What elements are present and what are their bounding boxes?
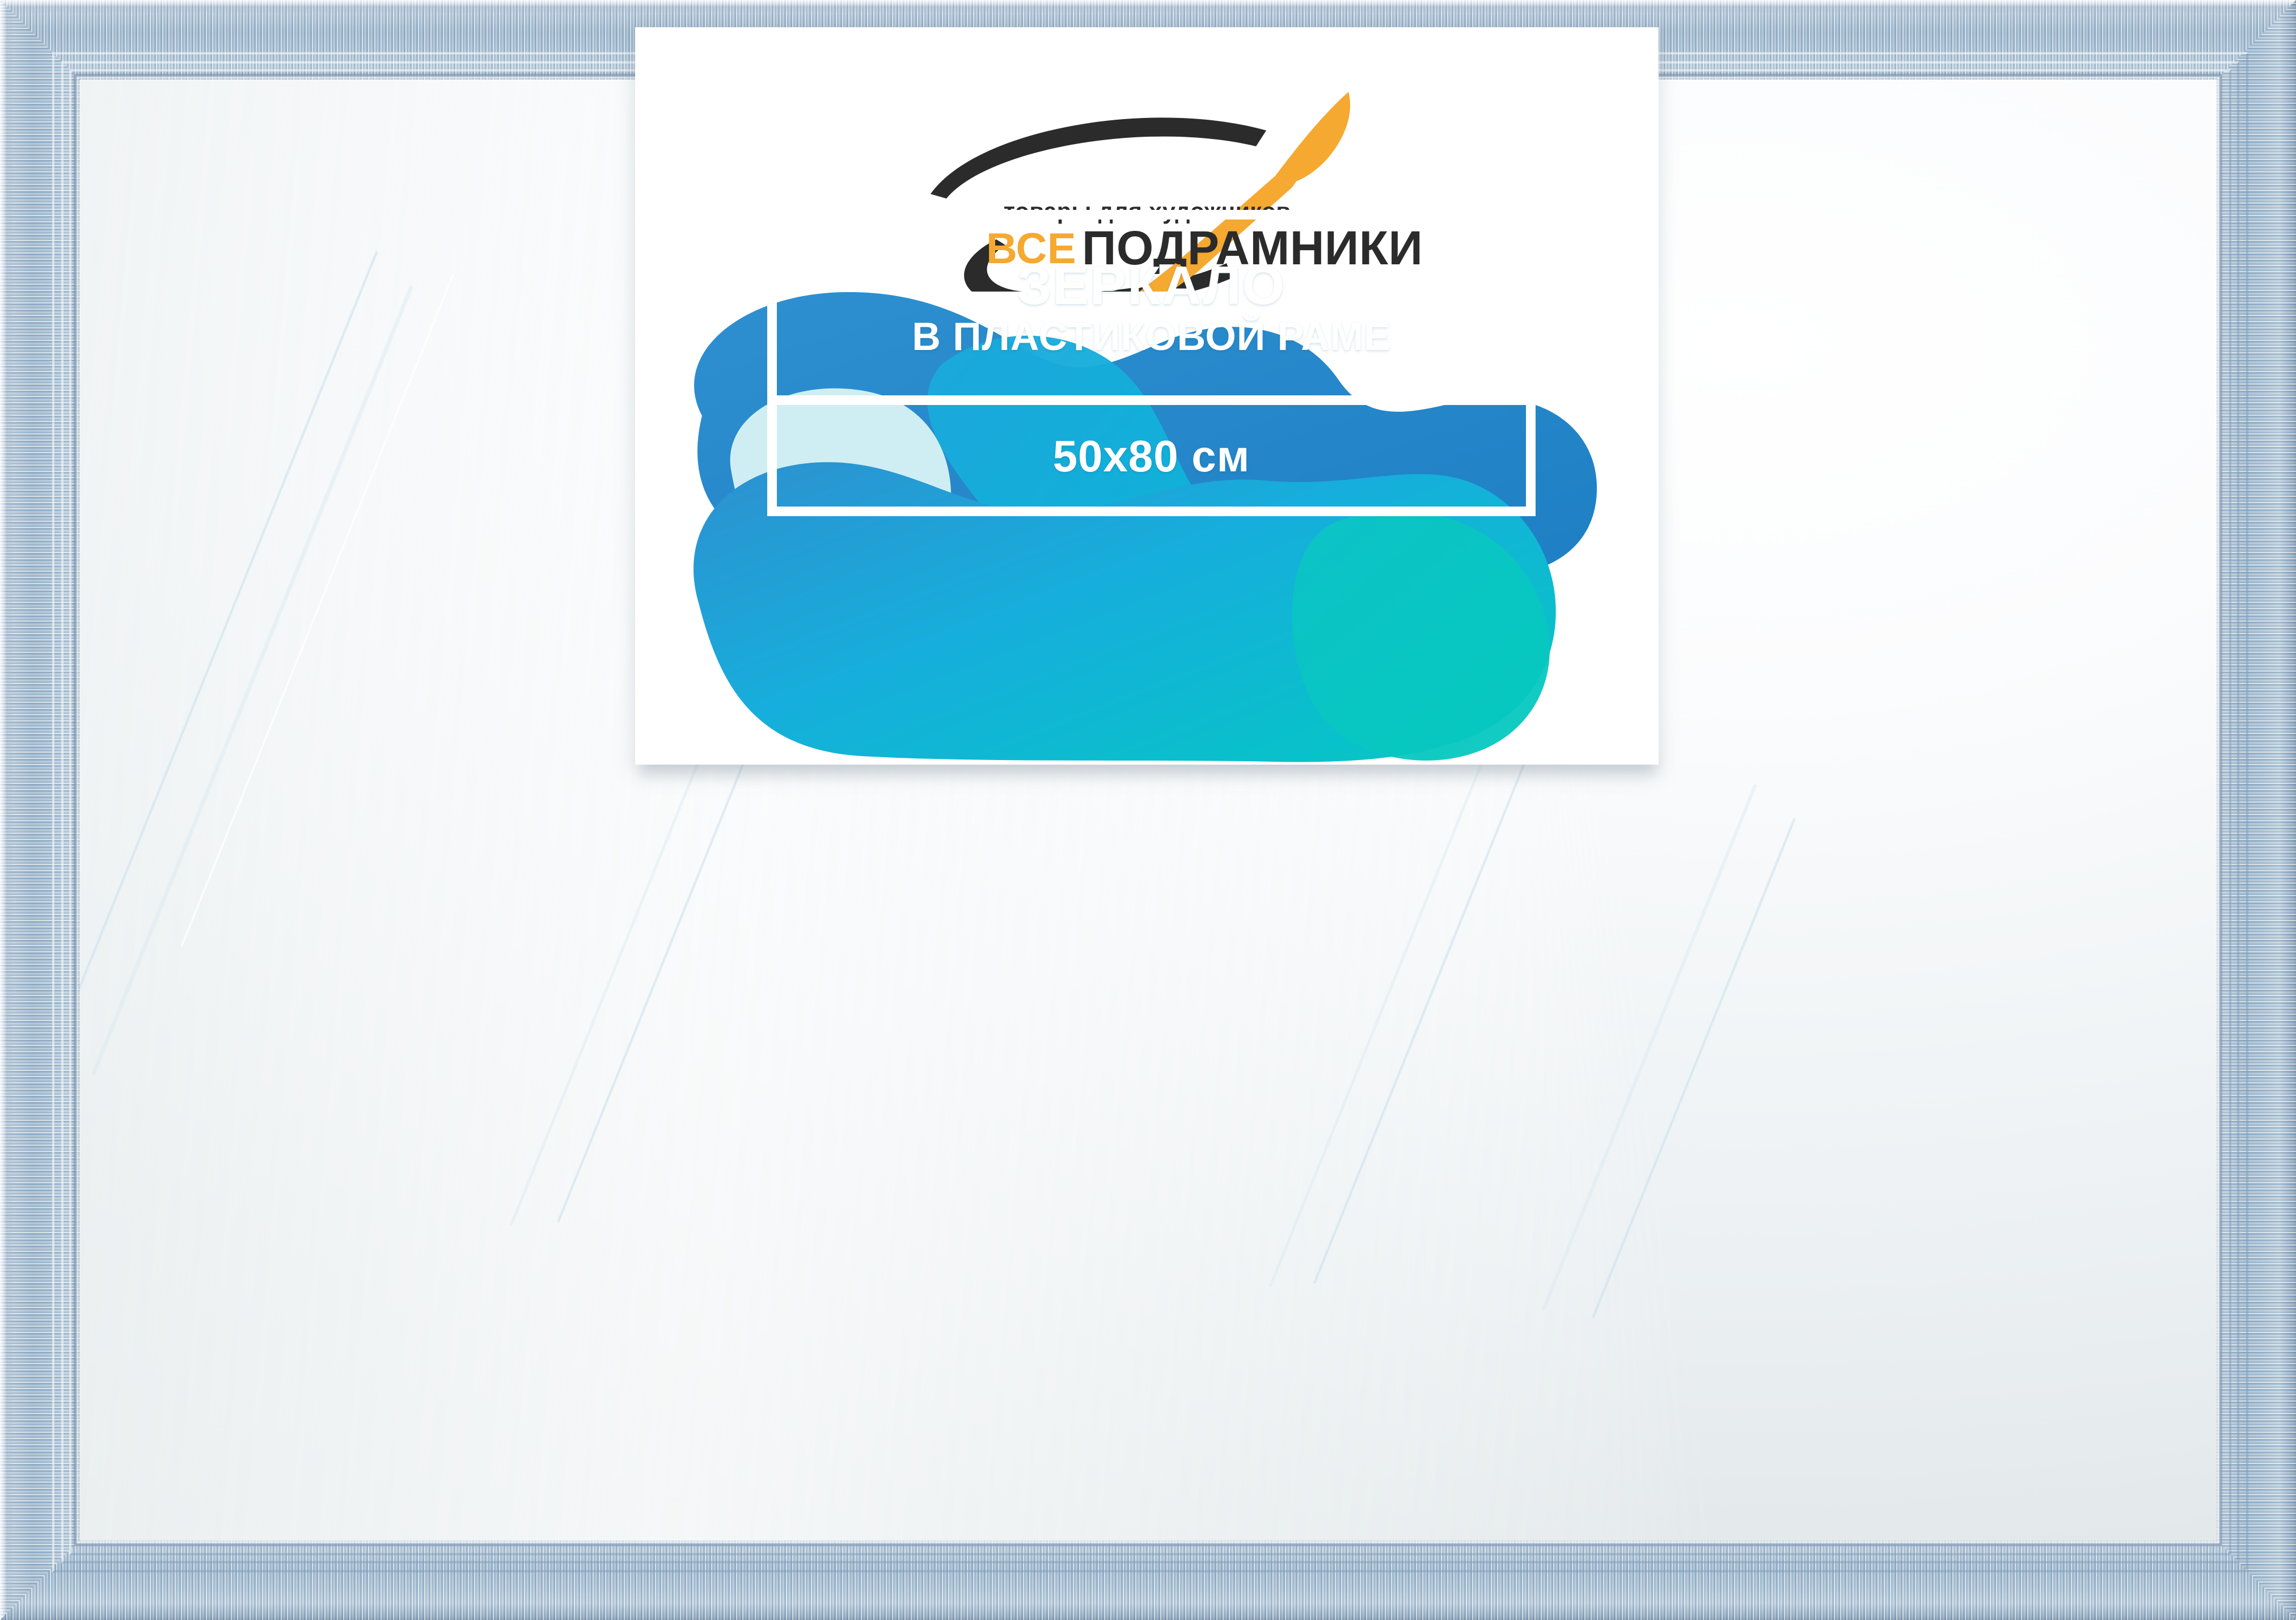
frame-rail-right bbox=[2212, 0, 2296, 1620]
label-text-divider bbox=[767, 395, 1536, 405]
label-text-upper: ЗЕРКАЛО В ПЛАСТИКОВОЙ РАМЕ bbox=[777, 220, 1526, 395]
frame-wood-grain-bottom bbox=[0, 1536, 2296, 1620]
frame-rail-bottom bbox=[0, 1536, 2296, 1620]
product-label-card: товары для художников ВСЕ ПОДРАМНИКИ bbox=[635, 27, 1659, 765]
frame-rail-left bbox=[0, 0, 84, 1620]
frame-wood-grain-left bbox=[0, 0, 84, 1620]
label-size: 50x80 см bbox=[1053, 434, 1250, 478]
label-headline: ЗЕРКАЛО bbox=[1017, 259, 1286, 313]
framed-mirror-product: товары для художников ВСЕ ПОДРАМНИКИ bbox=[0, 0, 2296, 1620]
label-subheadline: В ПЛАСТИКОВОЙ РАМЕ bbox=[912, 317, 1390, 356]
frame-wood-grain-right bbox=[2212, 0, 2296, 1620]
label-text-lower: 50x80 см bbox=[777, 405, 1526, 507]
logo-paintbrush-ferrule-icon bbox=[1296, 92, 1350, 182]
logo-swoosh-top-icon bbox=[931, 117, 1266, 199]
label-text-box: ЗЕРКАЛО В ПЛАСТИКОВОЙ РАМЕ 50x80 см bbox=[767, 210, 1536, 516]
